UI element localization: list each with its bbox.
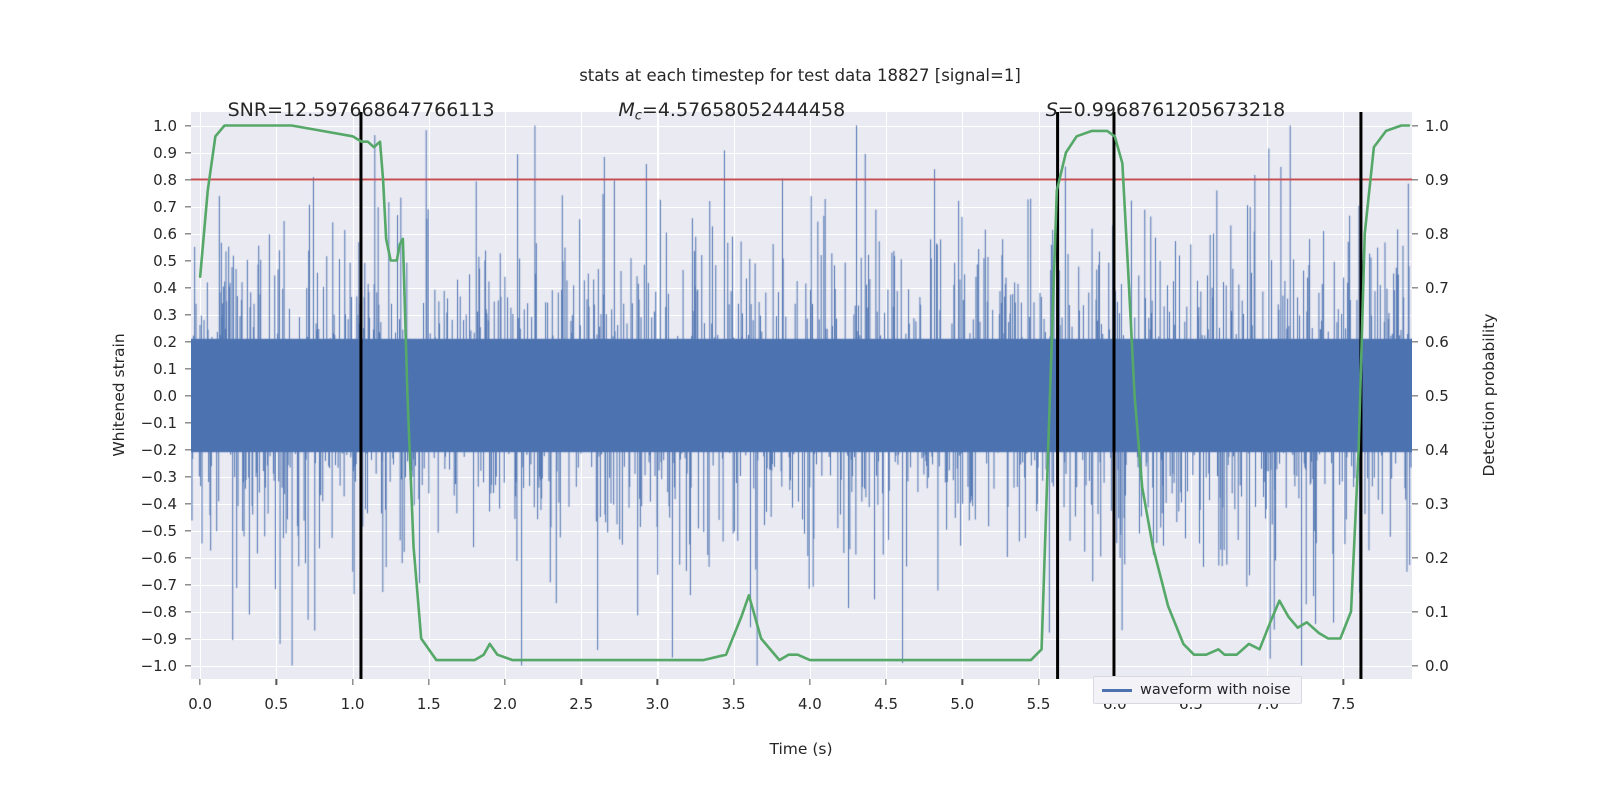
tick-mark-x (809, 679, 810, 685)
tick-mark-y-left (185, 125, 191, 126)
tick-label-y-left: −0.8 (125, 603, 177, 621)
annotation-s-equals: = (1058, 99, 1074, 121)
tick-label-x: 2.5 (551, 695, 611, 713)
tick-label-y-left: −0.3 (125, 468, 177, 486)
tick-label-y-left: −1.0 (125, 657, 177, 675)
tick-label-y-right: 0.1 (1425, 603, 1477, 621)
legend-label-waveform: waveform with noise (1140, 682, 1291, 698)
tick-label-y-right: 0.3 (1425, 495, 1477, 513)
tick-mark-y-left (185, 341, 191, 342)
tick-mark-x (657, 679, 658, 685)
tick-mark-y-right (1412, 449, 1418, 450)
tick-mark-x (1343, 679, 1344, 685)
tick-mark-x (428, 679, 429, 685)
annotation-mc-value: = (642, 99, 658, 121)
tick-mark-y-left (185, 206, 191, 207)
tick-mark-y-right (1412, 665, 1418, 666)
vertical-markers (361, 112, 1361, 679)
tick-label-y-left: −0.9 (125, 630, 177, 648)
annotation-chirp-mass: Mc=4.57658052444458 (618, 99, 845, 124)
tick-label-y-left: 0.3 (125, 306, 177, 324)
tick-label-y-right: 0.8 (1425, 225, 1477, 243)
tick-label-y-left: 1.0 (125, 117, 177, 135)
tick-label-y-left: 0.8 (125, 171, 177, 189)
tick-mark-x (885, 679, 886, 685)
tick-mark-x (1038, 679, 1039, 685)
tick-label-y-left: 0.6 (125, 225, 177, 243)
tick-label-y-right: 0.5 (1425, 387, 1477, 405)
page-title: stats at each timestep for test data 188… (0, 66, 1600, 85)
tick-mark-y-right (1412, 287, 1418, 288)
annotation-mc-symbol: M (618, 99, 634, 121)
tick-mark-x (962, 679, 963, 685)
tick-mark-y-right (1412, 233, 1418, 234)
tick-mark-y-left (185, 503, 191, 504)
tick-label-y-left: −0.5 (125, 522, 177, 540)
tick-mark-x (199, 679, 200, 685)
tick-label-x: 7.5 (1313, 695, 1373, 713)
tick-mark-y-left (185, 368, 191, 369)
tick-label-y-left: −0.6 (125, 549, 177, 567)
tick-label-x: 3.5 (704, 695, 764, 713)
tick-mark-y-right (1412, 341, 1418, 342)
tick-label-y-left: 0.5 (125, 252, 177, 270)
legend-swatch-waveform (1102, 689, 1132, 692)
annotation-mc-number: 4.57658052444458 (658, 99, 845, 121)
tick-label-y-right: 0.9 (1425, 171, 1477, 189)
tick-mark-y-right (1412, 125, 1418, 126)
tick-mark-y-left (185, 584, 191, 585)
tick-label-y-right: 1.0 (1425, 117, 1477, 135)
x-axis-label: Time (s) (769, 740, 832, 758)
tick-mark-y-left (185, 449, 191, 450)
tick-label-y-right: 0.0 (1425, 657, 1477, 675)
annotation-s-number: 0.9968761205673218 (1074, 99, 1286, 121)
tick-label-x: 1.0 (323, 695, 383, 713)
tick-label-x: 5.0 (932, 695, 992, 713)
y-axis-label-right: Detection probability (1480, 314, 1498, 477)
plot-area (191, 112, 1412, 679)
tick-label-y-left: 0.2 (125, 333, 177, 351)
tick-mark-y-left (185, 611, 191, 612)
tick-label-y-right: 0.4 (1425, 441, 1477, 459)
tick-mark-x (733, 679, 734, 685)
tick-label-y-left: 0.9 (125, 144, 177, 162)
tick-mark-x (504, 679, 505, 685)
annotation-snr-text: SNR=12.597668647766113 (228, 99, 495, 121)
tick-label-y-right: 0.2 (1425, 549, 1477, 567)
figure: stats at each timestep for test data 188… (0, 0, 1600, 800)
legend[interactable]: waveform with noise (1093, 676, 1302, 704)
tick-mark-y-left (185, 314, 191, 315)
overlay-lines (191, 112, 1412, 679)
tick-mark-y-left (185, 287, 191, 288)
tick-label-x: 2.0 (475, 695, 535, 713)
annotation-snr: SNR=12.597668647766113 (228, 99, 495, 121)
tick-label-y-left: 0.1 (125, 360, 177, 378)
tick-mark-x (581, 679, 582, 685)
tick-mark-y-left (185, 152, 191, 153)
tick-mark-x (352, 679, 353, 685)
tick-mark-y-right (1412, 395, 1418, 396)
tick-label-x: 0.5 (246, 695, 306, 713)
tick-label-x: 3.0 (627, 695, 687, 713)
y-axis-label-left: Whitened strain (110, 333, 128, 456)
tick-label-y-left: 0.7 (125, 198, 177, 216)
tick-mark-y-left (185, 179, 191, 180)
tick-label-y-left: 0.4 (125, 279, 177, 297)
tick-mark-y-left (185, 530, 191, 531)
tick-mark-y-left (185, 395, 191, 396)
tick-label-x: 5.5 (1009, 695, 1069, 713)
tick-mark-y-left (185, 260, 191, 261)
tick-label-y-right: 0.7 (1425, 279, 1477, 297)
tick-mark-y-right (1412, 503, 1418, 504)
tick-mark-y-right (1412, 179, 1418, 180)
tick-label-x: 4.5 (856, 695, 916, 713)
tick-label-y-left: −0.7 (125, 576, 177, 594)
annotation-score: S=0.9968761205673218 (1046, 99, 1286, 121)
tick-mark-y-right (1412, 611, 1418, 612)
tick-mark-y-right (1412, 557, 1418, 558)
tick-mark-y-left (185, 476, 191, 477)
annotation-mc-subscript: c (635, 109, 642, 124)
tick-mark-y-left (185, 638, 191, 639)
tick-label-x: 4.0 (780, 695, 840, 713)
tick-mark-y-left (185, 422, 191, 423)
tick-label-x: 1.5 (399, 695, 459, 713)
tick-mark-y-left (185, 665, 191, 666)
tick-mark-y-left (185, 557, 191, 558)
tick-label-y-left: −0.1 (125, 414, 177, 432)
tick-mark-y-left (185, 233, 191, 234)
tick-label-y-left: −0.2 (125, 441, 177, 459)
detection-probability-line (200, 126, 1409, 661)
annotation-s-symbol: S (1046, 99, 1058, 121)
tick-label-y-right: 0.6 (1425, 333, 1477, 351)
tick-mark-x (276, 679, 277, 685)
tick-label-y-left: −0.4 (125, 495, 177, 513)
tick-label-x: 0.0 (170, 695, 230, 713)
tick-label-y-left: 0.0 (125, 387, 177, 405)
